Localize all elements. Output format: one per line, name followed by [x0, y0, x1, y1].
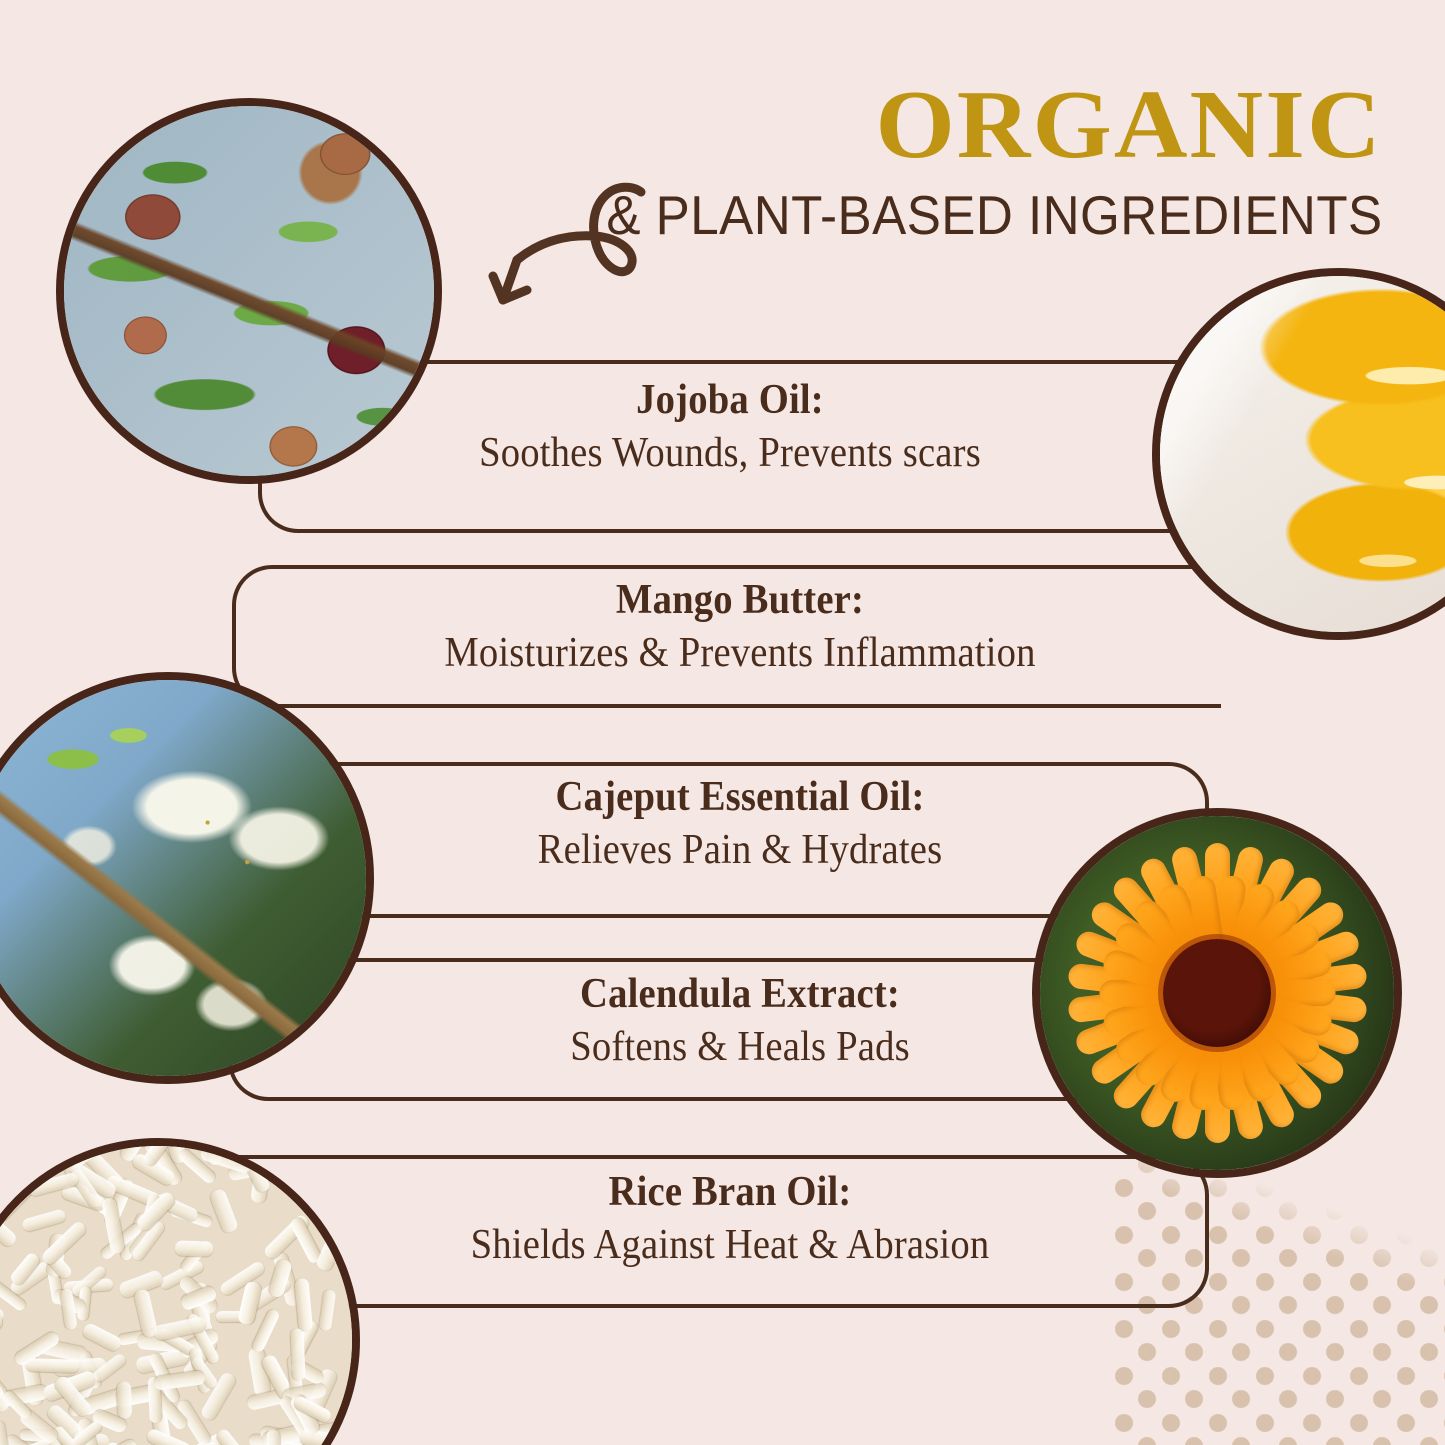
ingredient-name-jojoba: Jojoba Oil: — [399, 378, 1061, 423]
ingredient-row-calendula: Calendula Extract: Softens & Heals Pads — [390, 972, 1090, 1071]
ingredient-description-rice: Shields Against Heat & Abrasion — [362, 1223, 1098, 1268]
rice-grain — [294, 1277, 313, 1332]
ingredient-photo-calendula — [1032, 808, 1402, 1178]
rice-grain — [175, 1241, 213, 1257]
ingredient-photo-cajeput — [0, 672, 374, 1084]
ingredient-row-mango: Mango Butter: Moisturizes & Prevents Inf… — [300, 578, 1180, 677]
ingredient-name-rice: Rice Bran Oil: — [362, 1170, 1098, 1215]
rice-grain — [21, 1208, 67, 1232]
ingredient-description-jojoba: Soothes Wounds, Prevents scars — [399, 431, 1061, 476]
rice-grain — [0, 1314, 5, 1360]
ingredient-row-cajeput: Cajeput Essential Oil: Relieves Pain & H… — [380, 775, 1100, 874]
curved-loop-arrow-icon — [465, 178, 650, 313]
rice-grain — [266, 1429, 279, 1445]
rice-grain — [117, 1381, 132, 1418]
ingredient-row-jojoba: Jojoba Oil: Soothes Wounds, Prevents sca… — [370, 378, 1090, 477]
ingredients-infographic: ORGANIC & PLANT-BASED INGREDIENTS Jojoba… — [0, 0, 1445, 1445]
ingredient-photo-jojoba — [56, 98, 442, 484]
ingredient-row-rice: Rice Bran Oil: Shields Against Heat & Ab… — [330, 1170, 1130, 1269]
rice-grain — [290, 1329, 305, 1382]
page-title-block: ORGANIC & PLANT-BASED INGREDIENTS — [548, 76, 1383, 243]
rice-grain — [301, 1169, 350, 1186]
ingredient-name-mango: Mango Butter: — [335, 578, 1145, 623]
ingredient-description-mango: Moisturizes & Prevents Inflammation — [335, 631, 1145, 676]
rice-grain — [39, 1219, 88, 1267]
rice-grain — [251, 1308, 281, 1354]
page-subtitle: & PLANT-BASED INGREDIENTS — [607, 188, 1383, 243]
ingredient-photo-mango — [1152, 268, 1445, 640]
rice-grain — [81, 1322, 124, 1354]
cajeput-blossom-image — [0, 680, 366, 1076]
rice-grain — [315, 1227, 346, 1273]
rice-grain — [26, 1358, 80, 1373]
ingredient-photo-rice — [0, 1138, 360, 1445]
calendula-flower-image — [1040, 816, 1394, 1170]
ingredient-description-calendula: Softens & Heals Pads — [418, 1025, 1062, 1070]
rice-grain — [318, 1289, 336, 1331]
ingredient-description-cajeput: Relieves Pain & Hydrates — [409, 828, 1071, 873]
ingredient-name-calendula: Calendula Extract: — [418, 972, 1062, 1017]
rice-grain — [209, 1188, 239, 1235]
jojoba-berries-image — [64, 106, 434, 476]
rice-grains-image — [0, 1146, 352, 1445]
mango-butter-image — [1160, 276, 1445, 632]
ingredient-name-cajeput: Cajeput Essential Oil: — [409, 775, 1071, 820]
page-title: ORGANIC — [515, 76, 1383, 174]
calendula-flower-core — [1163, 939, 1271, 1047]
